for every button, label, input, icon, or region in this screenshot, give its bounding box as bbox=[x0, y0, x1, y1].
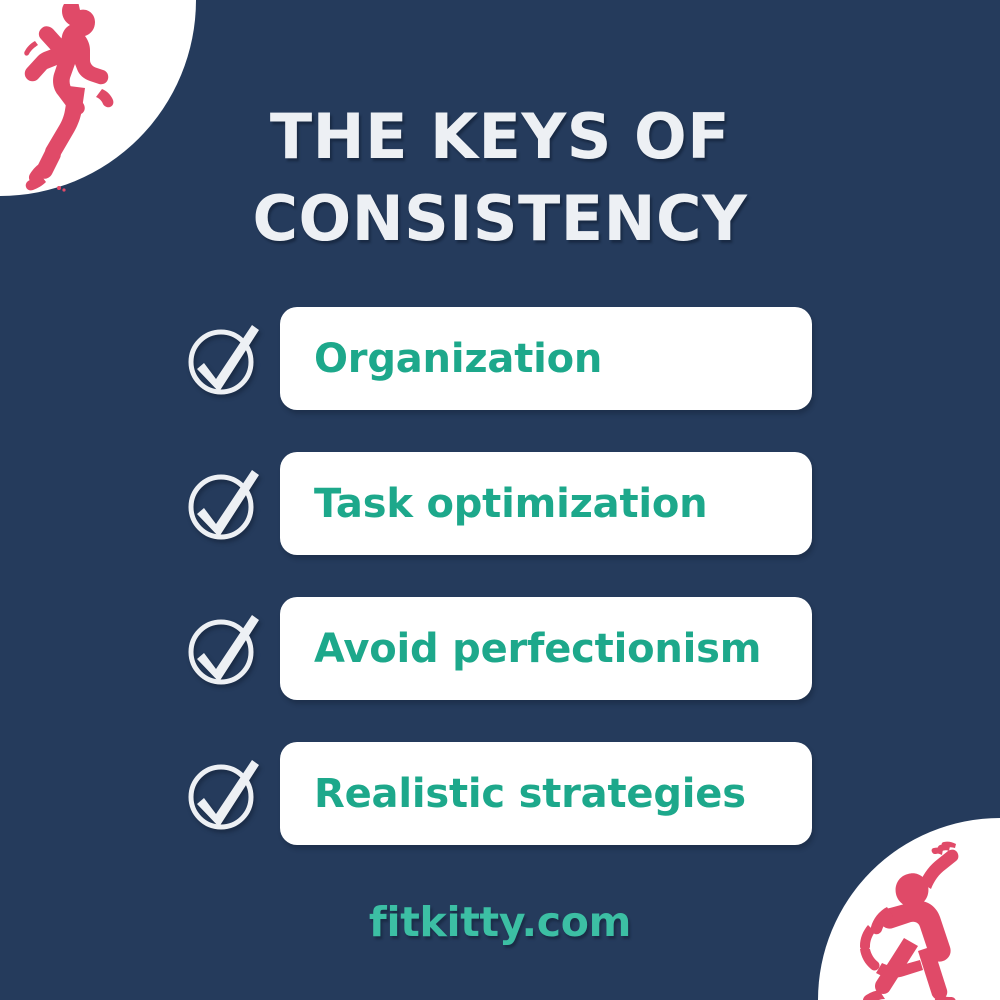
keys-list: Organization Task optimization Avoid per… bbox=[0, 307, 1000, 887]
check-circle-icon bbox=[185, 611, 261, 687]
list-item-card[interactable]: Realistic strategies bbox=[280, 742, 812, 845]
list-item-card[interactable]: Organization bbox=[280, 307, 812, 410]
website-footer[interactable]: fitkitty.com bbox=[0, 898, 1000, 946]
list-item-label: Avoid perfectionism bbox=[280, 626, 761, 672]
title-line-1: THE KEYS OF bbox=[0, 96, 1000, 178]
list-item[interactable]: Realistic strategies bbox=[0, 742, 1000, 845]
title-line-2: CONSISTENCY bbox=[0, 178, 1000, 260]
page-title: THE KEYS OF CONSISTENCY bbox=[0, 96, 1000, 261]
list-item-label: Organization bbox=[280, 336, 602, 382]
list-item[interactable]: Task optimization bbox=[0, 452, 1000, 555]
list-item-card[interactable]: Avoid perfectionism bbox=[280, 597, 812, 700]
list-item-label: Realistic strategies bbox=[280, 771, 746, 817]
list-item-label: Task optimization bbox=[280, 481, 707, 527]
list-item-card[interactable]: Task optimization bbox=[280, 452, 812, 555]
check-circle-icon bbox=[185, 466, 261, 542]
poster-canvas: THE KEYS OF CONSISTENCY Organization Tas… bbox=[0, 0, 1000, 1000]
list-item[interactable]: Organization bbox=[0, 307, 1000, 410]
check-circle-icon bbox=[185, 321, 261, 397]
list-item[interactable]: Avoid perfectionism bbox=[0, 597, 1000, 700]
check-circle-icon bbox=[185, 756, 261, 832]
